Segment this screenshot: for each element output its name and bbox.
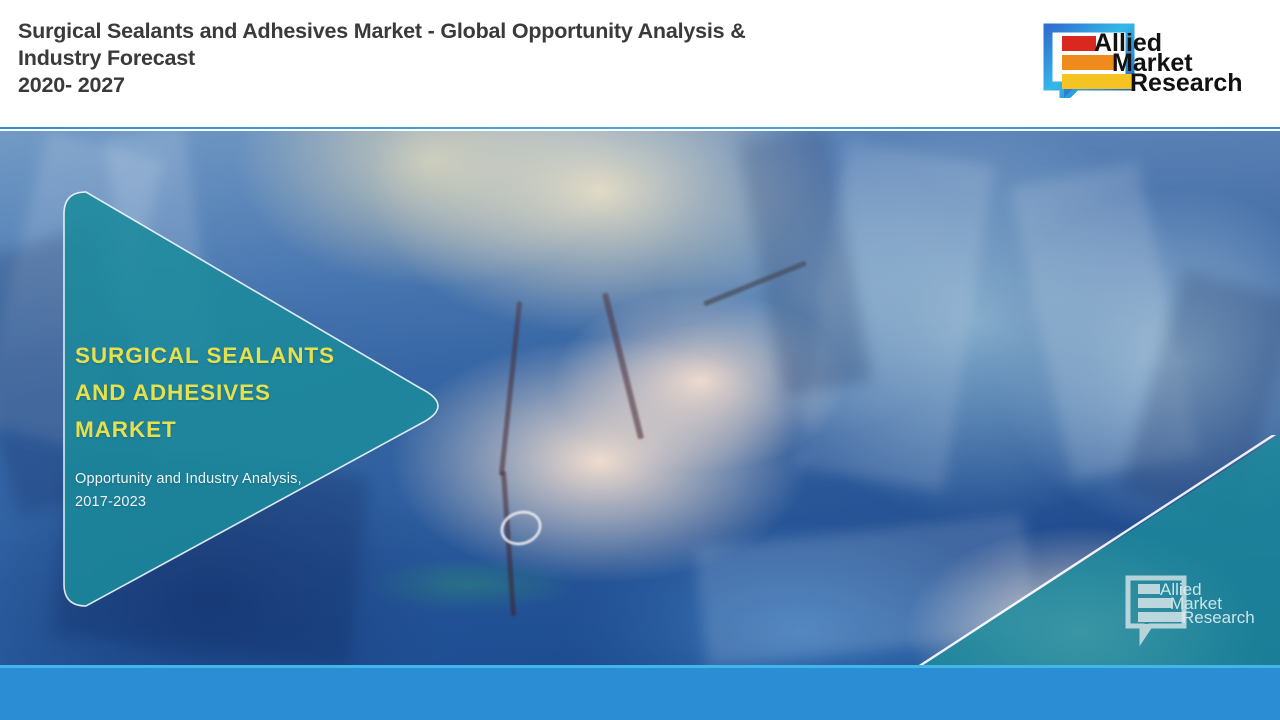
header: Surgical Sealants and Adhesives Market -… [0,0,1280,128]
logo-bar-red [1062,36,1096,51]
triangle-text-block: SURGICAL SEALANTS AND ADHESIVES MARKET O… [75,337,375,514]
watermark-text-line3: Research [1182,608,1255,627]
allied-market-research-logo: Allied Market Research [1042,22,1248,98]
slide-page: Surgical Sealants and Adhesives Market -… [0,0,1280,720]
header-divider [0,127,1280,129]
overlay-title: SURGICAL SEALANTS AND ADHESIVES MARKET [75,337,375,448]
page-title: Surgical Sealants and Adhesives Market -… [18,18,978,99]
watermark-bar-2 [1138,598,1172,608]
watermark-bar-1 [1138,584,1160,594]
logo-text-line3: Research [1130,69,1243,97]
footer-bar [0,665,1280,720]
allied-market-research-watermark: Allied Market Research [1124,574,1264,646]
logo-bar-orange [1062,55,1114,70]
hero-image: SURGICAL SEALANTS AND ADHESIVES MARKET O… [0,131,1280,665]
overlay-subtitle: Opportunity and Industry Analysis, 2017-… [75,468,375,514]
watermark-bar-3 [1138,612,1184,622]
